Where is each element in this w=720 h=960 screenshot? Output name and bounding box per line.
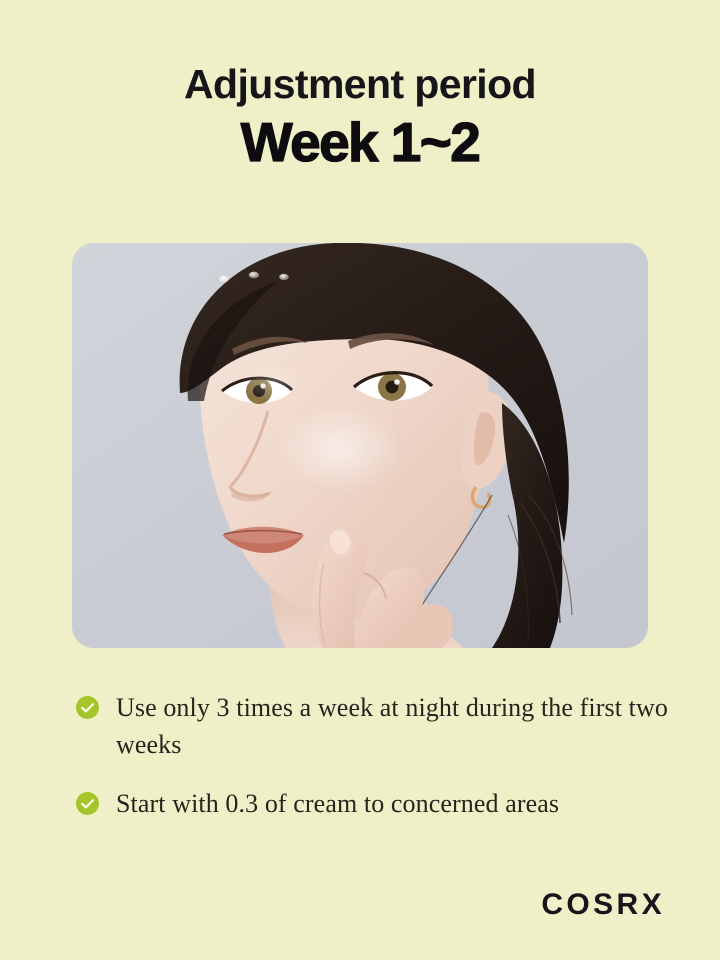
model-photo-illustration [72, 243, 648, 648]
heading-block: Adjustment period Week 1~2 [0, 62, 720, 172]
brand-logo: COSRX [541, 888, 665, 922]
page-title-kicker: Adjustment period [0, 62, 720, 108]
model-photo [72, 243, 648, 648]
check-circle-icon [76, 696, 99, 719]
instruction-list: Use only 3 times a week at night during … [76, 690, 676, 823]
instruction-text: Start with 0.3 of cream to concerned are… [116, 786, 559, 823]
list-item: Use only 3 times a week at night during … [76, 690, 676, 764]
page-title-main: Week 1~2 [0, 112, 720, 173]
promo-card: Adjustment period Week 1~2 [0, 0, 720, 960]
check-circle-icon [76, 792, 99, 815]
list-item: Start with 0.3 of cream to concerned are… [76, 786, 676, 823]
instruction-text: Use only 3 times a week at night during … [116, 690, 676, 764]
